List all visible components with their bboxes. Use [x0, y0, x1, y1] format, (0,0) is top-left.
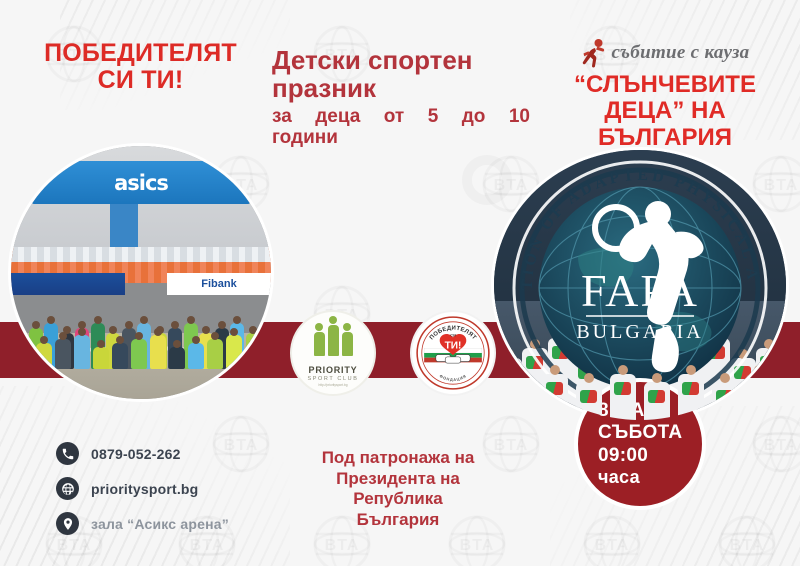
priority-figures-icon	[314, 320, 353, 356]
headline-left: ПОБЕДИТЕЛЯТ СИ ТИ!	[28, 40, 253, 94]
bta-watermark: BTA	[749, 412, 800, 476]
svg-text:BTA: BTA	[595, 537, 630, 554]
location-pin-icon	[56, 512, 79, 535]
phone-icon	[56, 442, 79, 465]
fapa-team-member	[610, 374, 636, 420]
photo-person	[150, 335, 166, 369]
headline-right: събитие с кауза “СЛЪНЧЕВИТЕ ДЕЦА” НА БЪЛ…	[545, 38, 785, 151]
right-title-line1: “СЛЪНЧЕВИТЕ	[545, 72, 785, 98]
fapa-team-member	[542, 374, 568, 420]
asics-banner: asics	[32, 161, 250, 204]
contact-row-phone[interactable]: 0879-052-262	[56, 442, 229, 465]
patronage-line2: Президента на	[288, 469, 508, 490]
priority-logo-name: PRIORITY	[309, 365, 358, 375]
photo-person	[131, 339, 147, 369]
patronage-line1: Под патронажа на	[288, 448, 508, 469]
right-title-line2: ДЕЦА” НА	[545, 98, 785, 124]
bta-watermark: BTA	[715, 512, 779, 566]
priority-sport-club-logo: PRIORITY SPORT CLUB http://prioritysport…	[292, 312, 374, 394]
svg-text:BTA: BTA	[325, 537, 360, 554]
photo-pillar	[110, 204, 139, 252]
patronage-block: Под патронажа на Президента на Република…	[288, 448, 508, 531]
photo-person	[169, 347, 185, 369]
center-sub-line2: години	[272, 127, 530, 148]
globe-icon	[56, 477, 79, 500]
fapa-acronym: FAPA	[581, 265, 699, 316]
center-sub-line1: за деца от 5 до 10	[272, 106, 530, 127]
photo-person	[36, 343, 52, 369]
bta-watermark: BTA	[580, 512, 644, 566]
center-title-line1: Детски спортен	[272, 46, 530, 74]
group-photo-left: asics Fibank	[11, 146, 271, 399]
date-time-unit: часа	[598, 467, 702, 488]
svg-text:BTA: BTA	[730, 537, 765, 554]
photo-person	[55, 339, 71, 369]
photo-person	[112, 343, 128, 369]
photo-seats-upper	[11, 247, 271, 262]
contact-row-location[interactable]: зала “Асикс арена”	[56, 512, 229, 535]
winner-heart-text: ТИ!	[445, 340, 462, 351]
contact-list: 0879-052-262 prioritysport.bg зала “Асик…	[56, 442, 229, 547]
headline-left-line1: ПОБЕДИТЕЛЯТ	[28, 40, 253, 67]
fapa-country: BULGARIA	[576, 321, 703, 343]
photo-person	[207, 339, 223, 369]
date-time: 09:00	[598, 445, 702, 467]
contact-location-value: зала “Асикс арена”	[91, 516, 229, 532]
photo-person	[74, 335, 90, 369]
headline-left-line2: СИ ТИ!	[28, 67, 253, 94]
photo-crowd	[11, 262, 271, 368]
running-figure-icon	[581, 38, 607, 68]
priority-logo-subtitle: SPORT CLUB	[308, 376, 359, 382]
contact-row-website[interactable]: prioritysport.bg	[56, 477, 229, 500]
fapa-team-member	[712, 382, 738, 420]
photo-person	[226, 335, 242, 369]
cause-label: събитие с кауза	[612, 42, 750, 64]
photo-person	[245, 347, 261, 369]
asics-banner-label: asics	[114, 171, 168, 195]
patronage-line3: Република	[288, 489, 508, 510]
svg-text:BTA: BTA	[460, 537, 495, 554]
contact-phone-value: 0879-052-262	[91, 446, 181, 462]
winner-arc-mid: СИ	[450, 333, 456, 338]
photo-person	[93, 347, 109, 369]
winner-foundation-logo: ТИ! ПОБЕДИТЕЛЯТ ФОНДАЦИЯ СИ	[412, 312, 494, 394]
patronage-line4: България	[288, 510, 508, 531]
fapa-team-member	[746, 374, 772, 420]
fapa-team-member	[508, 382, 534, 420]
photo-person	[17, 347, 33, 369]
svg-text:BTA: BTA	[764, 437, 799, 454]
photo-person	[188, 343, 204, 369]
fapa-team-member	[678, 374, 704, 420]
headline-center: Детски спортен празник за деца от 5 до 1…	[272, 46, 530, 149]
contact-website-value: prioritysport.bg	[91, 481, 198, 497]
date-weekday: СЪБОТА	[598, 422, 702, 444]
right-title-line3: БЪЛГАРИЯ	[545, 125, 785, 151]
poster-canvas: BTABTABTABTABTABTABTABTABTABTABTABTABTAB…	[0, 0, 800, 566]
priority-logo-url: http://prioritysport.bg	[318, 383, 347, 387]
fapa-team-member	[576, 382, 602, 420]
center-title-line2: празник	[272, 74, 530, 102]
fapa-team-member	[644, 382, 670, 420]
